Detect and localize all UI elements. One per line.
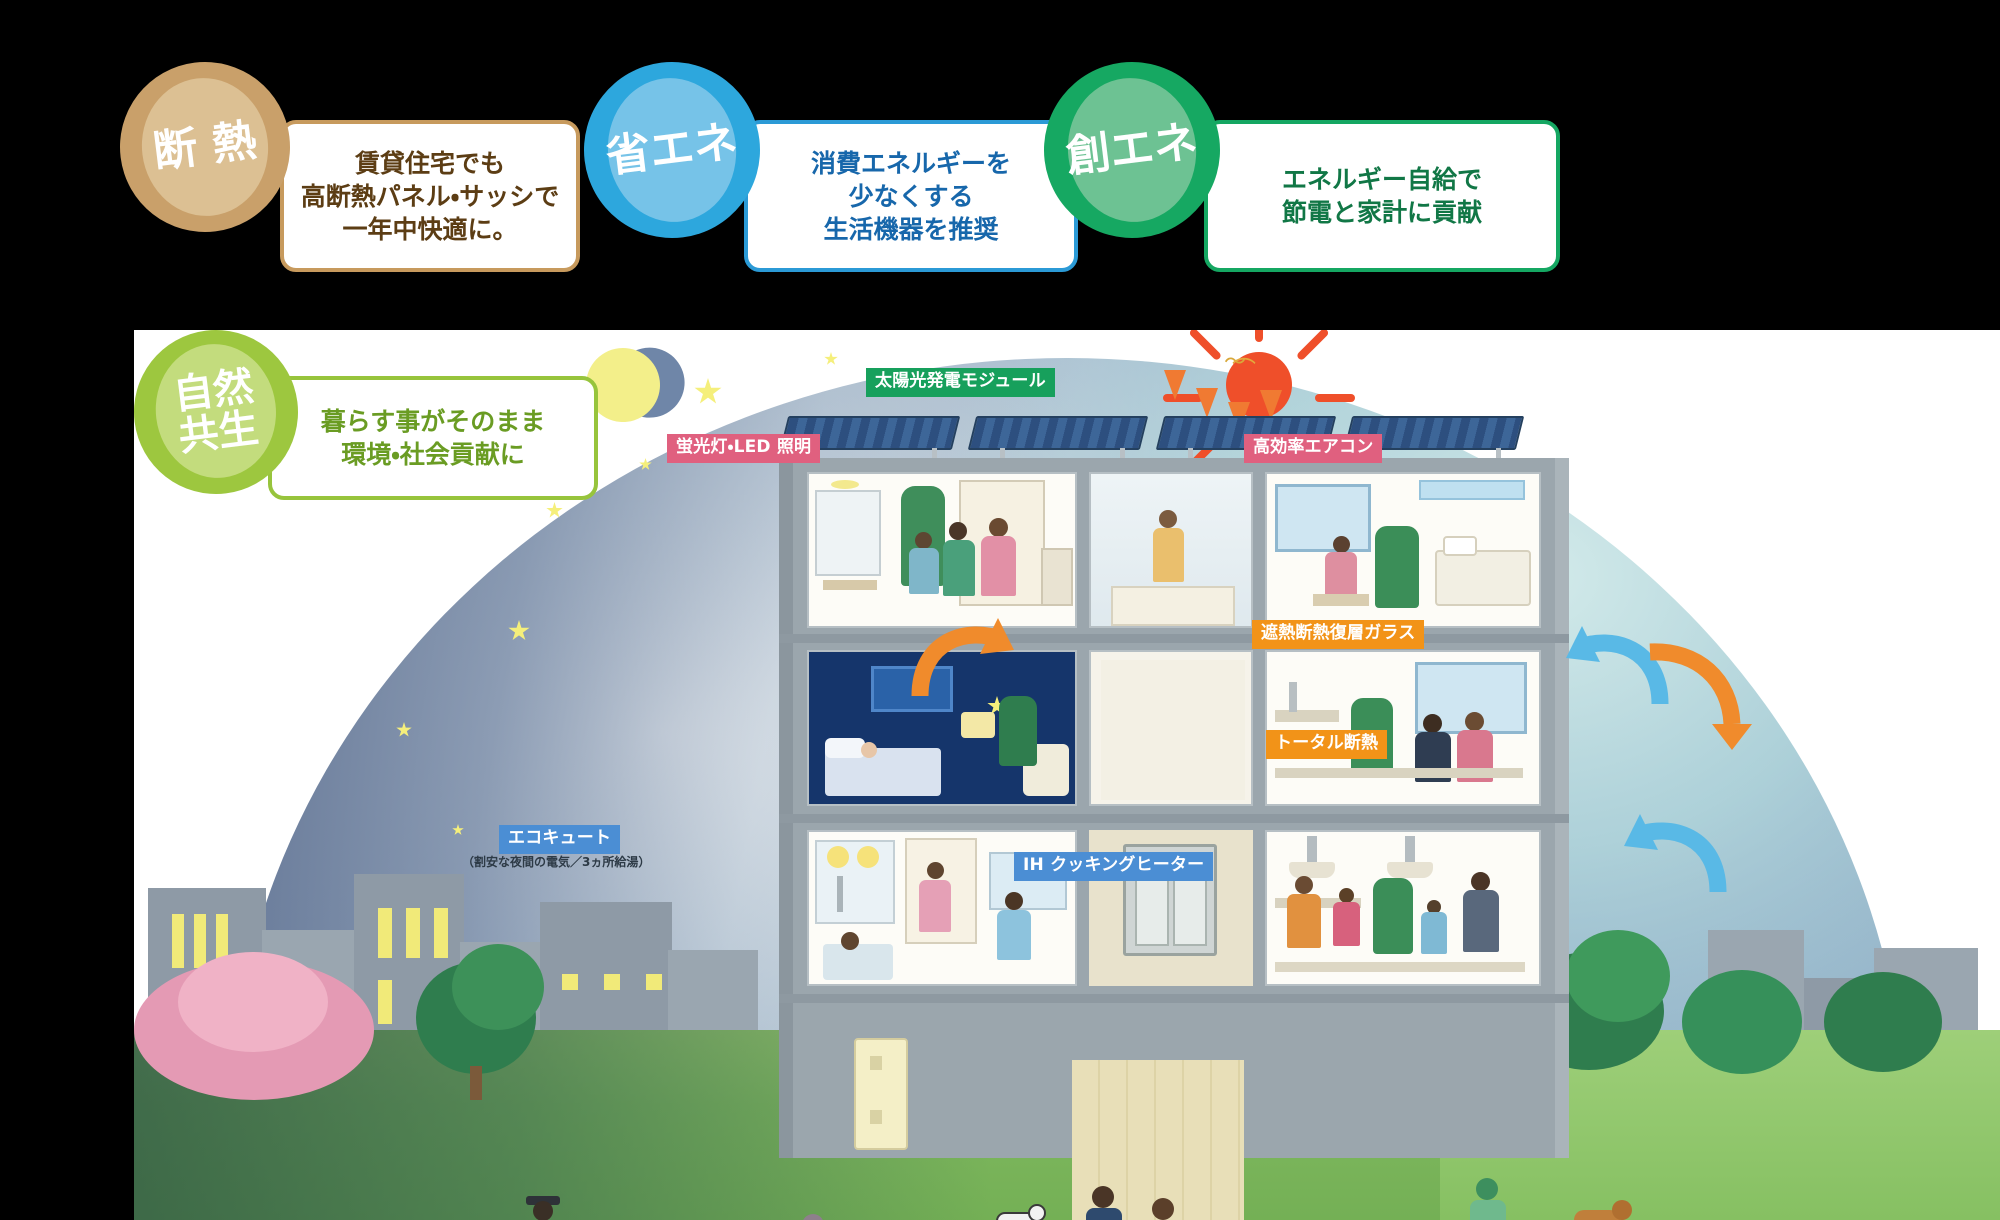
callout-shizen: 暮らす事がそのまま 環境・社会貢献に 自然 共生 <box>128 330 598 520</box>
solar-panel <box>968 416 1148 450</box>
tag-solar-module: 太陽光発電モジュール <box>866 368 1055 397</box>
tree-icon <box>452 944 544 1030</box>
room-stairs-2f <box>1089 650 1253 806</box>
ecocute-tank <box>854 1038 908 1150</box>
sunlight-arrow <box>1164 370 1186 400</box>
tree-trunk <box>470 1066 482 1100</box>
callout-dannetsu: 賃貸住宅でも 高断熱パネル・サッシで 一年中快適に。 断 熱 <box>110 62 580 272</box>
callout-dannetsu-line-3: 一年中快適に。 <box>342 213 517 246</box>
callout-souene-line-2: 節電と家計に貢献 <box>1282 196 1482 229</box>
callout-shoene: 消費エネルギーを 少なくする 生活機器を推奨 省エネ <box>576 62 1046 272</box>
room-corridor-3f <box>1089 472 1253 628</box>
star-icon <box>694 378 722 406</box>
callout-dannetsu-line-1: 賃貸住宅でも <box>355 147 505 180</box>
callout-shizen-badge-label-2: 共生 <box>176 407 261 459</box>
room-dining-1f <box>1265 830 1541 986</box>
callout-dannetsu-card: 賃貸住宅でも 高断熱パネル・サッシで 一年中快適に。 <box>280 120 580 272</box>
callout-souene-badge: 創エネ <box>1034 52 1230 248</box>
room-bedroom-3f <box>1265 472 1541 628</box>
tag-ih-cooking-heater: IH クッキングヒーター <box>1014 852 1213 881</box>
sun-ray <box>1296 330 1330 361</box>
tree-icon <box>1824 972 1942 1072</box>
callout-souene-line-1: エネルギー自給で <box>1282 163 1482 196</box>
heat-flow-arrow-outer <box>1634 632 1754 752</box>
aircon-unit-3f <box>1419 480 1525 500</box>
tree-icon <box>1566 930 1670 1022</box>
callout-dannetsu-line-2: 高断熱パネル・サッシで <box>301 180 560 213</box>
tag-total-insulation: トータル断熱 <box>1266 730 1387 759</box>
sun-ray <box>1188 330 1222 361</box>
callout-shizen-line-1: 暮らす事がそのまま <box>321 405 546 438</box>
tag-ecocute-sub: （割安な夜間の電気／3ヵ所給湯） <box>462 853 650 870</box>
callout-shoene-line-3: 生活機器を推奨 <box>823 213 998 246</box>
callout-shizen-card: 暮らす事がそのまま 環境・社会貢献に <box>268 376 598 500</box>
room-kitchen-2f <box>1265 650 1541 806</box>
bird-icon: ⌒ <box>1232 358 1256 382</box>
room-living-3f <box>807 472 1077 628</box>
tree-icon <box>1682 970 1802 1074</box>
tag-glass: 遮熱断熱復層ガラス <box>1252 620 1424 649</box>
callout-shoene-card: 消費エネルギーを 少なくする 生活機器を推奨 <box>744 120 1078 272</box>
tag-ecocute: エコキュート <box>499 825 620 854</box>
tag-lighting: 蛍光灯・LED 照明 <box>667 434 820 463</box>
callout-shoene-line-2: 少なくする <box>848 180 973 213</box>
callout-dannetsu-badge: 断 熱 <box>110 52 299 241</box>
tag-aircon: 高効率エアコン <box>1244 434 1382 463</box>
star-icon <box>824 352 838 366</box>
callout-souene-card: エネルギー自給で 節電と家計に貢献 <box>1204 120 1560 272</box>
cool-flow-arrow-mid <box>1622 806 1732 916</box>
callout-shizen-line-2: 環境・社会貢献に <box>341 438 525 471</box>
callout-shoene-badge: 省エネ <box>574 52 770 248</box>
callout-souene: エネルギー自給で 節電と家計に貢献 創エネ <box>1036 62 1536 272</box>
sun-ray <box>1315 394 1355 402</box>
cherry-tree <box>178 952 328 1052</box>
callout-shoene-line-1: 消費エネルギーを <box>811 147 1011 180</box>
sun-ray <box>1255 330 1263 342</box>
infographic-canvas: 〜 ⌒ ⌒ ⌒ <box>0 0 2000 1220</box>
heat-flow-arrow-left <box>906 610 1016 720</box>
